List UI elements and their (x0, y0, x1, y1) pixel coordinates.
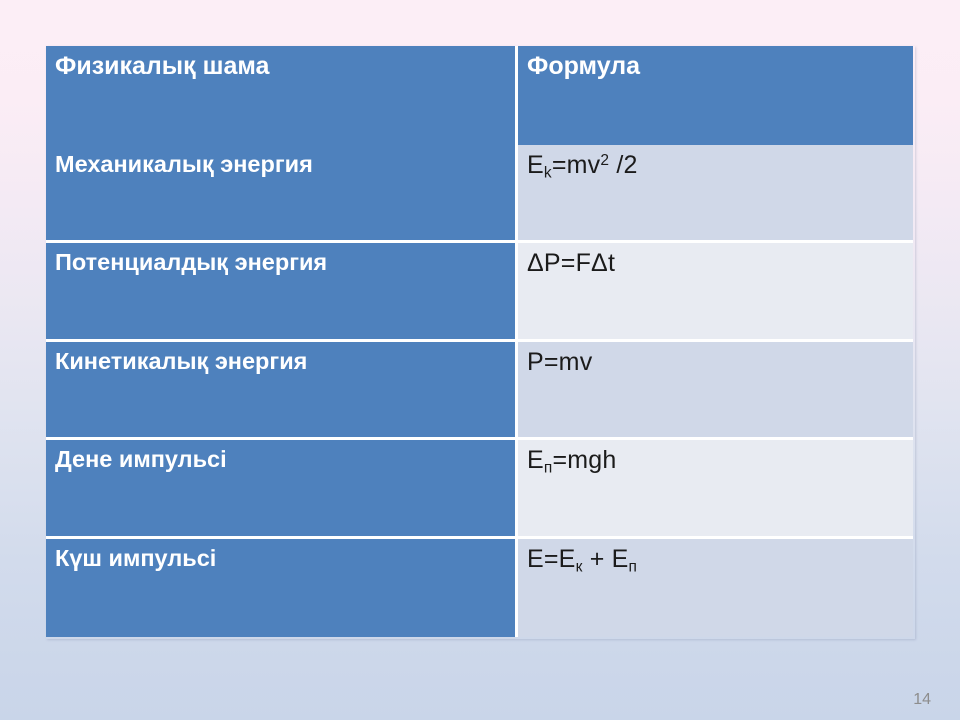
formula-fragment: E (527, 151, 544, 179)
formula-fragment: + E (583, 545, 629, 573)
table-header-row: Физикалық шама Формула (46, 46, 913, 145)
formula-cell: ΔP=FΔt (518, 243, 913, 341)
table-row: Кинетикалық энергияP=mv (46, 342, 913, 440)
formula-fragment: /2 (609, 151, 637, 179)
formula-fragment: E (527, 446, 544, 474)
formula-fragment: P=mv (527, 348, 592, 376)
table-row: Механикалық энергияEk=mv2 /2 (46, 145, 913, 243)
formula-fragment: ΔP=FΔt (527, 249, 615, 277)
formulas-table: Физикалық шама Формула Механикалық энерг… (46, 46, 913, 637)
table-body: Механикалық энергияEk=mv2 /2Потенциалдық… (46, 145, 913, 637)
table-row: Күш импульсіE=Eк + Eп (46, 539, 913, 637)
formula-cell: Ek=mv2 /2 (518, 145, 913, 243)
table-row: Потенциалдық энергияΔP=FΔt (46, 243, 913, 341)
column-header-formula: Формула (518, 46, 913, 145)
formula-fragment: =mgh (552, 446, 616, 474)
quantity-name-cell: Дене импульсі (46, 440, 518, 538)
formula-cell: Eп=mgh (518, 440, 913, 538)
table-row: Дене импульсіEп=mgh (46, 440, 913, 538)
formula-fragment: п (629, 558, 638, 575)
quantity-name-cell: Кинетикалық энергия (46, 342, 518, 440)
slide-number: 14 (913, 691, 931, 709)
quantity-name-cell: Потенциалдық энергия (46, 243, 518, 341)
column-header-quantity: Физикалық шама (46, 46, 518, 145)
formula-fragment: k (544, 164, 552, 181)
formula-fragment: к (576, 558, 583, 575)
table-header: Физикалық шама Формула (46, 46, 913, 145)
slide-canvas: Физикалық шама Формула Механикалық энерг… (0, 0, 960, 720)
formula-cell: P=mv (518, 342, 913, 440)
formulas-table-container: Физикалық шама Формула Механикалық энерг… (46, 46, 913, 637)
formula-fragment: E=E (527, 545, 576, 573)
formula-fragment: =mv (552, 151, 601, 179)
quantity-name-cell: Күш импульсі (46, 539, 518, 637)
formula-fragment: 2 (600, 152, 609, 169)
formula-cell: E=Eк + Eп (518, 539, 913, 637)
quantity-name-cell: Механикалық энергия (46, 145, 518, 243)
